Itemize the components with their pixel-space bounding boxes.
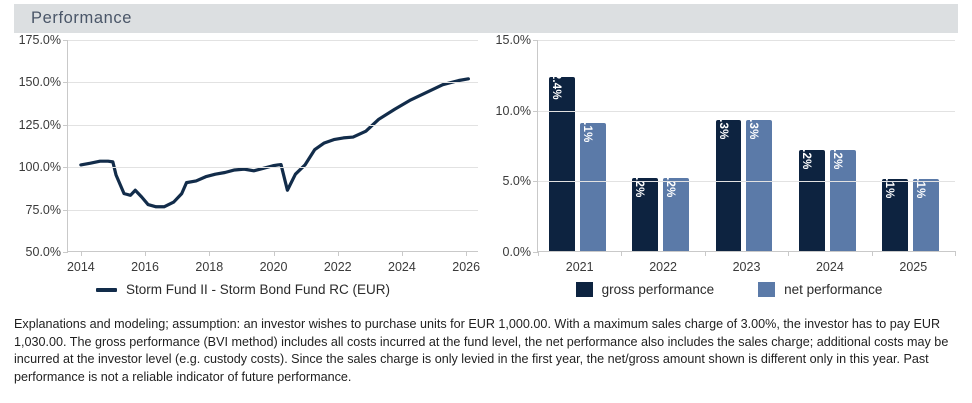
- gross-swatch-icon: [576, 282, 593, 297]
- charts-row: 50.0%75.0%100.0%125.0%150.0%175.0%201420…: [0, 36, 972, 311]
- x-tick-label: 2024: [816, 260, 844, 274]
- x-tick-label: 2023: [733, 260, 761, 274]
- gridline: [538, 181, 955, 182]
- legend-label-gross: gross performance: [602, 282, 715, 297]
- y-tick-mark: [63, 40, 68, 41]
- net-swatch-icon: [758, 282, 775, 297]
- bar-value-label: 12.4%: [550, 66, 562, 100]
- legend-item-gross: gross performance: [576, 282, 715, 297]
- page-title: Performance: [14, 9, 132, 28]
- bar-value-label: 5.1%: [914, 172, 926, 199]
- legend-item-fund: Storm Fund II - Storm Bond Fund RC (EUR): [96, 282, 390, 297]
- bar-gross: 9.3%: [716, 120, 742, 251]
- bar-group: 9.3%9.3%: [705, 40, 788, 251]
- x-tick-mark: [402, 251, 403, 256]
- y-tick-label: 15.0%: [496, 33, 531, 47]
- y-tick-label: 150.0%: [19, 75, 61, 89]
- x-tick-label: 2018: [195, 260, 223, 274]
- x-tick-label: 2025: [899, 260, 927, 274]
- x-tick-label: 2022: [649, 260, 677, 274]
- x-tick-label: 2020: [260, 260, 288, 274]
- gridline: [68, 167, 478, 168]
- bar-plot-area: 12.4%9.1%5.2%5.2%9.3%9.3%7.2%7.2%5.1%5.1…: [537, 40, 955, 252]
- x-tick-mark: [705, 251, 706, 256]
- bar-value-label: 5.1%: [883, 172, 895, 199]
- y-tick-label: 175.0%: [19, 33, 61, 47]
- bar-plot-wrap: 12.4%9.1%5.2%5.2%9.3%9.3%7.2%7.2%5.1%5.1…: [537, 40, 955, 252]
- bar-gross: 7.2%: [799, 150, 825, 251]
- bar-group: 5.2%5.2%: [621, 40, 704, 251]
- performance-factsheet-page: Performance 50.0%75.0%100.0%125.0%150.0%…: [0, 0, 972, 403]
- bar-chart-legend: gross performance net performance: [486, 282, 972, 297]
- y-tick-mark: [63, 252, 68, 253]
- line-chart-panel: 50.0%75.0%100.0%125.0%150.0%175.0%201420…: [0, 36, 486, 311]
- bar-gross: 5.1%: [882, 179, 908, 251]
- x-tick-mark: [466, 251, 467, 256]
- y-tick-label: 125.0%: [19, 118, 61, 132]
- x-tick-mark: [209, 251, 210, 256]
- x-tick-mark: [538, 251, 539, 256]
- bar-group: 12.4%9.1%: [538, 40, 621, 251]
- x-tick-label: 2024: [388, 260, 416, 274]
- line-plot-wrap: 50.0%75.0%100.0%125.0%150.0%175.0%201420…: [67, 40, 478, 252]
- x-tick-label: 2022: [324, 260, 352, 274]
- gridline: [68, 40, 478, 41]
- bar-value-label: 5.2%: [633, 170, 645, 197]
- y-tick-mark: [63, 82, 68, 83]
- x-tick-mark: [274, 251, 275, 256]
- x-tick-mark: [145, 251, 146, 256]
- x-tick-mark: [788, 251, 789, 256]
- bar-value-label: 9.1%: [581, 115, 593, 142]
- y-tick-mark: [63, 125, 68, 126]
- y-tick-label: 75.0%: [26, 203, 61, 217]
- gridline: [68, 82, 478, 83]
- line-series-path: [81, 79, 469, 207]
- x-tick-mark: [81, 251, 82, 256]
- bar-net: 5.2%: [663, 178, 689, 251]
- gridline: [68, 210, 478, 211]
- section-header: Performance: [14, 4, 958, 33]
- y-tick-mark: [533, 111, 538, 112]
- bar-group: 5.1%5.1%: [872, 40, 955, 251]
- y-tick-mark: [63, 210, 68, 211]
- y-tick-label: 100.0%: [19, 160, 61, 174]
- y-tick-label: 50.0%: [26, 245, 61, 259]
- bar-value-label: 5.2%: [664, 170, 676, 197]
- gridline: [538, 40, 955, 41]
- x-tick-label: 2014: [67, 260, 95, 274]
- bar-gross: 12.4%: [549, 77, 575, 251]
- bar-chart-panel: 12.4%9.1%5.2%5.2%9.3%9.3%7.2%7.2%5.1%5.1…: [486, 36, 972, 311]
- line-swatch-icon: [96, 288, 117, 292]
- y-tick-mark: [63, 167, 68, 168]
- legend-label-net: net performance: [784, 282, 882, 297]
- gridline: [68, 125, 478, 126]
- y-tick-label: 0.0%: [503, 245, 532, 259]
- bar-net: 9.1%: [580, 123, 606, 251]
- x-tick-mark: [621, 251, 622, 256]
- bar-value-label: 9.3%: [747, 113, 759, 140]
- x-tick-mark: [872, 251, 873, 256]
- x-tick-mark: [338, 251, 339, 256]
- legend-label-fund: Storm Fund II - Storm Bond Fund RC (EUR): [126, 282, 390, 297]
- gridline: [538, 111, 955, 112]
- bar-value-label: 9.3%: [717, 113, 729, 140]
- performance-line: [68, 40, 478, 251]
- bar-value-label: 7.2%: [800, 142, 812, 169]
- y-tick-label: 5.0%: [503, 174, 532, 188]
- disclaimer-text: Explanations and modeling; assumption: a…: [14, 316, 958, 386]
- y-tick-mark: [533, 181, 538, 182]
- y-tick-mark: [533, 40, 538, 41]
- y-tick-label: 10.0%: [496, 104, 531, 118]
- legend-item-net: net performance: [758, 282, 882, 297]
- bars-layer: 12.4%9.1%5.2%5.2%9.3%9.3%7.2%7.2%5.1%5.1…: [538, 40, 955, 251]
- bar-group: 7.2%7.2%: [788, 40, 871, 251]
- bar-net: 7.2%: [830, 150, 856, 251]
- bar-net: 9.3%: [746, 120, 772, 251]
- bar-gross: 5.2%: [632, 178, 658, 251]
- bar-net: 5.1%: [913, 179, 939, 251]
- bar-value-label: 7.2%: [831, 142, 843, 169]
- x-tick-label: 2021: [566, 260, 594, 274]
- x-tick-label: 2016: [131, 260, 159, 274]
- line-chart-legend: Storm Fund II - Storm Bond Fund RC (EUR): [0, 282, 486, 297]
- x-tick-label: 2026: [452, 260, 480, 274]
- x-tick-mark: [955, 251, 956, 256]
- line-plot-area: 50.0%75.0%100.0%125.0%150.0%175.0%201420…: [67, 40, 478, 252]
